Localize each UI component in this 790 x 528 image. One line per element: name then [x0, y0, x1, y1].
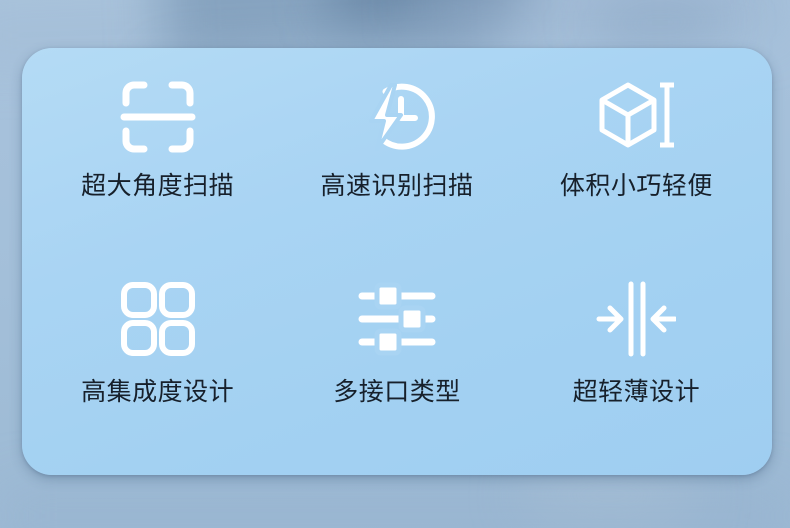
cube-measure-icon: [593, 74, 679, 160]
feature-grid: 超大角度扫描 高速识别扫描: [22, 48, 772, 475]
feature-label: 超轻薄设计: [573, 380, 701, 405]
grid-four-squares-icon: [115, 276, 201, 362]
feature-item-multi-interface[interactable]: 多接口类型: [277, 268, 516, 462]
feature-item-fast-recognition[interactable]: 高速识别扫描: [277, 74, 516, 268]
feature-label: 超大角度扫描: [81, 174, 234, 199]
background-blur-shape: [328, 0, 532, 25]
feature-label: 多接口类型: [333, 380, 461, 405]
compress-horizontal-icon: [593, 276, 679, 362]
feature-item-high-integration[interactable]: 高集成度设计: [38, 268, 277, 462]
feature-label: 高速识别扫描: [320, 174, 473, 199]
page-background: 超大角度扫描 高速识别扫描: [0, 0, 790, 528]
feature-label: 体积小巧轻便: [560, 174, 713, 199]
scan-frame-icon: [115, 74, 201, 160]
feature-item-ultra-thin[interactable]: 超轻薄设计: [517, 268, 756, 462]
feature-item-compact-size[interactable]: 体积小巧轻便: [517, 74, 756, 268]
sliders-icon: [354, 276, 440, 362]
feature-label: 高集成度设计: [81, 380, 234, 405]
clock-lightning-icon: [354, 74, 440, 160]
background-blur-shape: [599, 0, 721, 48]
feature-card: 超大角度扫描 高速识别扫描: [22, 48, 772, 475]
background-blur-shape: [0, 486, 790, 528]
background-blur-shape: [419, 0, 781, 45]
feature-item-scan-angle[interactable]: 超大角度扫描: [38, 74, 277, 268]
